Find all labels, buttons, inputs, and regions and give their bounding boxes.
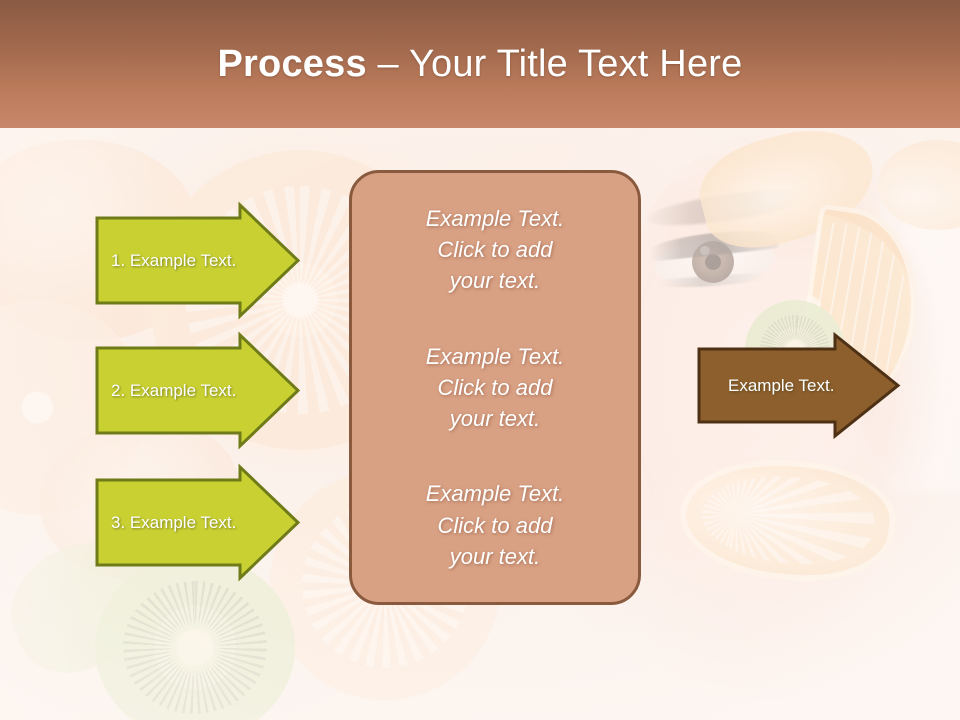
title-bold-part: Process [218,43,367,85]
page-title: Process – Your Title Text Here [218,43,743,86]
result-arrow[interactable]: Example Text. [697,333,900,438]
slide-canvas: Process – Your Title Text Here 1. Exampl… [0,0,960,720]
center-box-paragraph-2: Example Text. Click to add your text. [426,341,565,435]
process-step-arrow-2[interactable]: 2. Example Text. [95,333,300,448]
process-step-arrow-1[interactable]: 1. Example Text. [95,203,300,318]
center-box-paragraph-1: Example Text. Click to add your text. [426,203,565,297]
pupil [705,254,721,270]
center-content-box[interactable]: Example Text. Click to add your text. Ex… [349,170,641,605]
title-banner: Process – Your Title Text Here [0,0,960,128]
process-step-arrow-3-label: 3. Example Text. [111,513,236,533]
process-step-arrow-1-label: 1. Example Text. [111,251,236,271]
process-step-arrow-3[interactable]: 3. Example Text. [95,465,300,580]
process-step-arrow-2-label: 2. Example Text. [111,381,236,401]
center-box-paragraph-3: Example Text. Click to add your text. [426,478,565,572]
result-arrow-label: Example Text. [728,376,834,396]
title-rest-part: – Your Title Text Here [367,43,743,85]
